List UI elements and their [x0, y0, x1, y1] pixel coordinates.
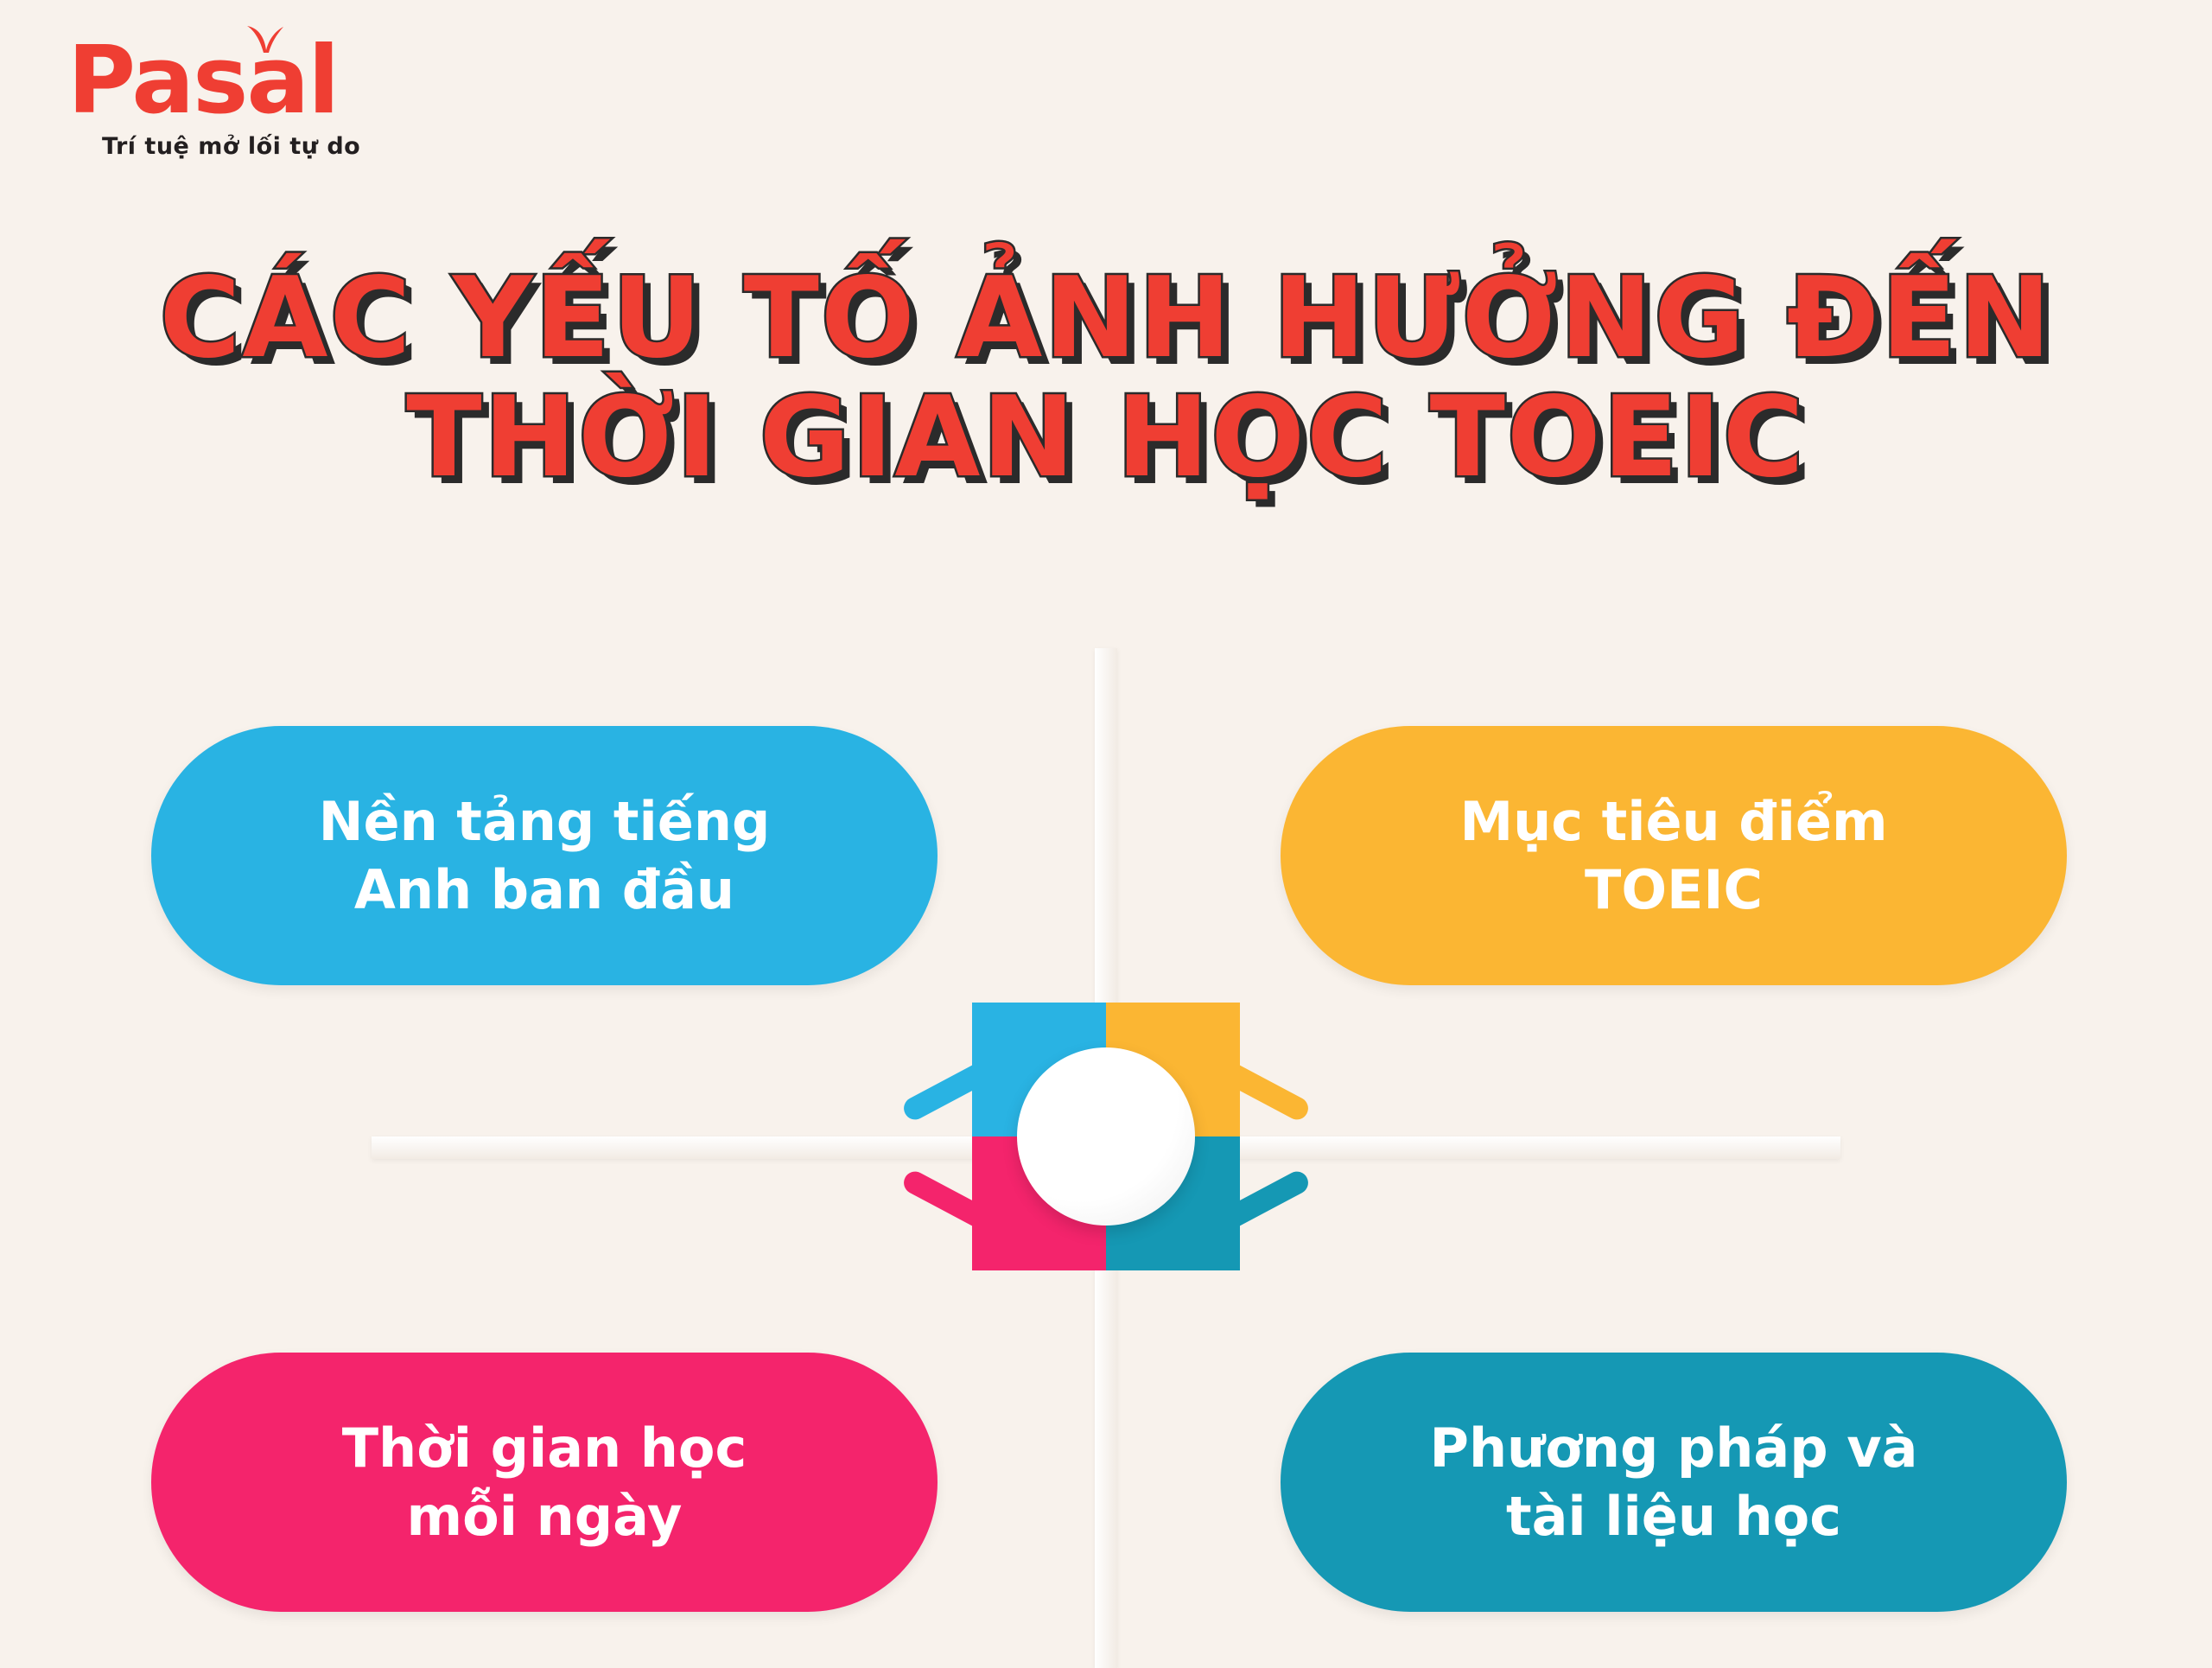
diagram-item-top-right[interactable]: Mục tiêu điểm TOEIC [1281, 726, 2067, 985]
page-title: CÁC YẾU TỐ ẢNH HƯỞNG ĐẾN THỜI GIAN HỌC T… [0, 259, 2212, 498]
quadrant-diagram: Nền tảng tiếng Anh ban đầu Mục tiêu điểm… [0, 605, 2212, 1659]
hub-center-circle [1017, 1047, 1195, 1226]
diagram-item-top-right-line-2: TOEIC [1459, 856, 1887, 924]
diagram-item-bottom-right-line-1: Phương pháp và [1430, 1414, 1918, 1482]
diagram-item-top-left[interactable]: Nền tảng tiếng Anh ban đầu [151, 726, 938, 985]
diagram-item-top-right-line-1: Mục tiêu điểm [1459, 787, 1887, 856]
leaf-icon [245, 24, 285, 54]
brand-logo: Pasal Trí tuệ mở lối tự do [67, 35, 430, 160]
diagram-item-top-left-line-2: Anh ban đầu [319, 856, 771, 924]
diagram-item-bottom-right[interactable]: Phương pháp và tài liệu học [1281, 1353, 2067, 1612]
diagram-item-bottom-left-line-2: mỗi ngày [342, 1482, 747, 1550]
page-title-line-2: THỜI GIAN HỌC TOEIC [0, 379, 2212, 498]
brand-wordmark-text: Pasal [67, 27, 338, 135]
diagram-hub [972, 1003, 1240, 1270]
diagram-item-bottom-left[interactable]: Thời gian học mỗi ngày [151, 1353, 938, 1612]
diagram-item-bottom-left-line-1: Thời gian học [342, 1414, 747, 1482]
diagram-item-top-left-line-1: Nền tảng tiếng [319, 787, 771, 856]
brand-tagline: Trí tuệ mở lối tự do [102, 133, 430, 160]
page-title-line-1: CÁC YẾU TỐ ẢNH HƯỞNG ĐẾN [0, 259, 2212, 379]
diagram-item-bottom-right-line-2: tài liệu học [1430, 1482, 1918, 1550]
brand-wordmark: Pasal [67, 35, 338, 128]
